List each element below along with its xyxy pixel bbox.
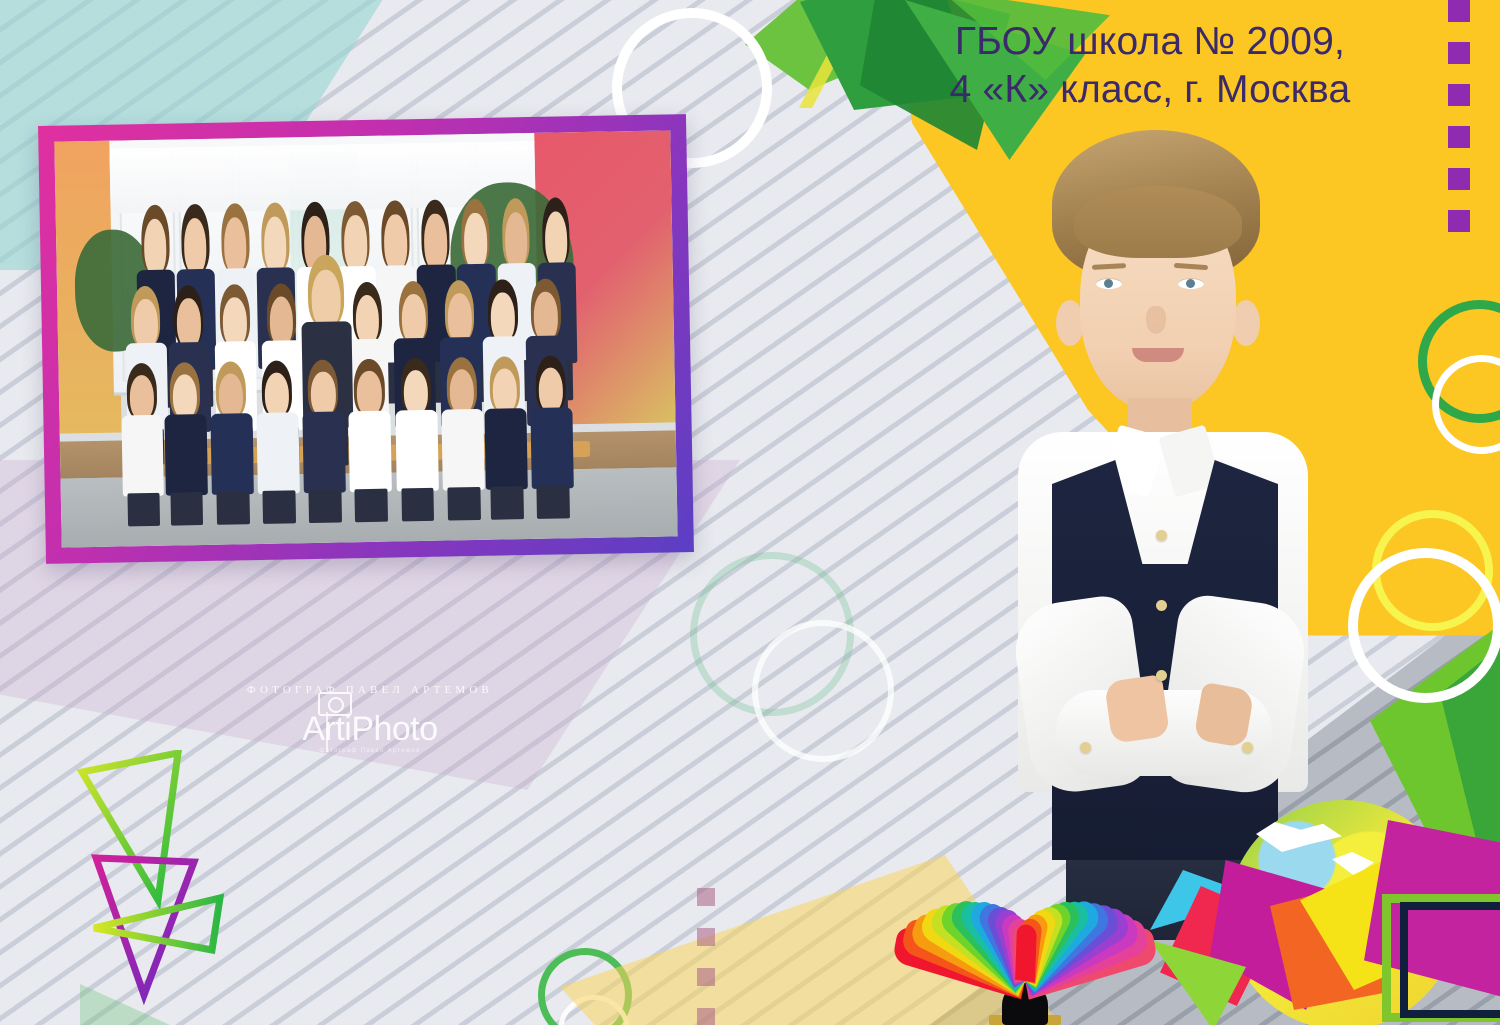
student-legs xyxy=(537,486,570,519)
student-torso xyxy=(256,413,299,495)
student-head xyxy=(355,294,379,344)
student-legs xyxy=(355,489,388,522)
purple-dot-column xyxy=(1448,0,1470,252)
student-head xyxy=(269,296,293,346)
portrait-eye-right xyxy=(1178,278,1204,289)
student-torso xyxy=(121,415,164,497)
student-head xyxy=(449,369,474,415)
student-head xyxy=(403,370,428,416)
title-line-1: ГБОУ школа № 2009, xyxy=(880,18,1420,66)
student-torso xyxy=(210,413,253,495)
student-figure xyxy=(394,358,439,521)
classroom-scene xyxy=(54,130,677,547)
cuff-button-left xyxy=(1080,742,1091,753)
cuff-button-right xyxy=(1242,742,1253,753)
student-head xyxy=(223,297,247,347)
student-head xyxy=(311,371,336,417)
student-figure xyxy=(255,361,300,524)
student-torso xyxy=(441,409,484,491)
shirt-button-1 xyxy=(1156,530,1167,541)
class-photo-image xyxy=(54,130,677,547)
student-head xyxy=(218,373,243,419)
student-torso xyxy=(164,414,207,496)
student-head xyxy=(491,292,515,342)
student-head xyxy=(357,370,382,416)
student-torso xyxy=(349,411,392,493)
student-figure xyxy=(163,362,208,525)
triangle-decor-group xyxy=(70,750,370,1025)
student-legs xyxy=(309,490,342,523)
student-legs xyxy=(262,491,295,524)
student-head xyxy=(177,298,201,348)
student-head xyxy=(311,269,341,329)
portrait-hand-left xyxy=(1104,674,1170,743)
student-head xyxy=(129,375,154,421)
student-legs xyxy=(401,488,434,521)
student-torso xyxy=(484,408,527,490)
student-head xyxy=(172,374,197,420)
portrait-fringe xyxy=(1074,186,1242,258)
portrait-mouth xyxy=(1132,348,1184,362)
student-legs xyxy=(490,486,523,519)
portrait-ear-right xyxy=(1232,300,1260,346)
student-legs xyxy=(127,493,160,526)
student-legs xyxy=(216,491,249,524)
student-legs xyxy=(170,492,203,525)
student-figure xyxy=(302,360,347,523)
student-figure xyxy=(348,359,393,522)
mauve-dot-column xyxy=(697,888,715,1025)
white-circle-right-2 xyxy=(1348,548,1500,703)
student-head xyxy=(492,368,517,414)
book-page xyxy=(1015,923,1037,982)
abstract-dark-square xyxy=(1400,902,1500,1018)
student-figure xyxy=(530,356,575,519)
class-photo-frame[interactable] xyxy=(38,114,694,564)
student-torso xyxy=(395,410,438,492)
student-figure xyxy=(440,357,485,520)
student-head xyxy=(401,294,425,344)
student-head xyxy=(448,293,472,343)
shirt-button-2 xyxy=(1156,600,1167,611)
student-torso xyxy=(303,412,346,494)
title-line-2: 4 «К» класс, г. Москва xyxy=(880,66,1420,114)
student-legs xyxy=(447,487,480,520)
portrait-nose xyxy=(1146,306,1166,334)
faint-white-circle xyxy=(752,620,894,762)
student-figure xyxy=(120,363,165,526)
portrait-eye-left xyxy=(1096,278,1122,289)
student-figure xyxy=(209,361,254,524)
student-head xyxy=(265,372,290,418)
student-head xyxy=(539,367,564,413)
shirt-button-3 xyxy=(1156,670,1167,681)
abstract-shapes-group xyxy=(1150,830,1500,1025)
student-torso xyxy=(531,407,574,489)
poster-canvas: Фотограф Павел Артемов ArtiPhoto фотогра… xyxy=(0,0,1500,1025)
page-title: ГБОУ школа № 2009, 4 «К» класс, г. Москв… xyxy=(880,18,1420,113)
green-triangle-outline xyxy=(82,753,178,900)
student-head xyxy=(534,291,558,341)
student-figure xyxy=(483,356,528,519)
student-head xyxy=(134,298,158,348)
